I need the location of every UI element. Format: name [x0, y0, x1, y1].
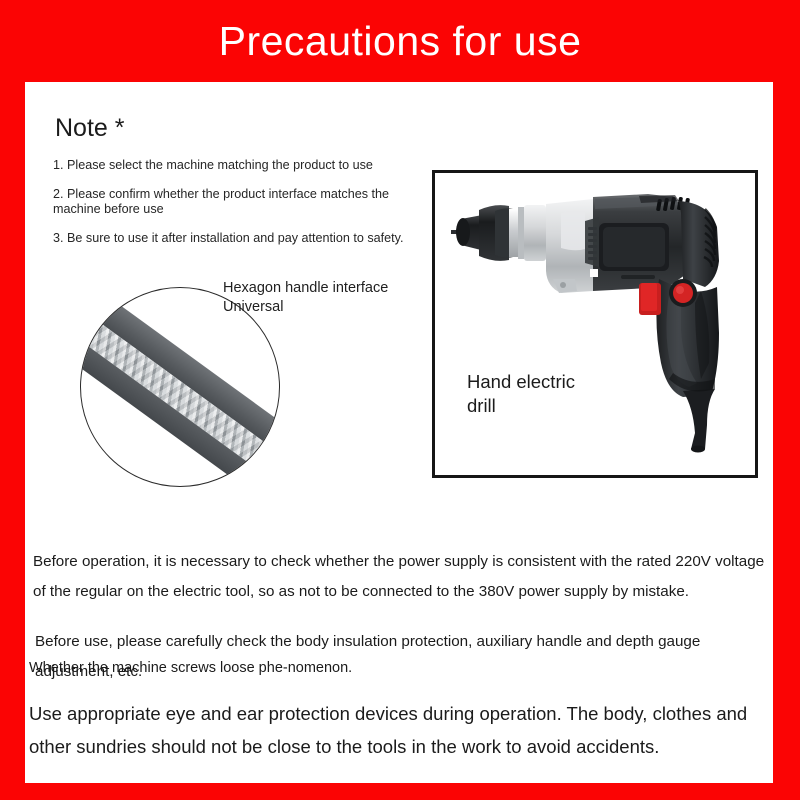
note-item: 3. Be sure to use it after installation …: [53, 231, 421, 247]
hexagon-caption: Hexagon handle interface Universal: [223, 279, 388, 317]
paragraph-insulation-check: Before use, please carefully check the b…: [35, 627, 768, 687]
paragraph-power-supply: Before operation, it is necessary to che…: [33, 547, 768, 607]
hand-electric-drill-panel: Hand electric drill: [432, 170, 758, 478]
note-list: 1. Please select the machine matching th…: [53, 158, 421, 246]
hexagon-caption-line1: Hexagon handle interface: [223, 279, 388, 298]
content-panel: Note * 1. Please select the machine matc…: [25, 82, 773, 783]
hexagon-shank-illustration: [80, 288, 280, 487]
page-title: Precautions for use: [219, 21, 582, 62]
drill-label-line1: Hand electric: [467, 370, 575, 394]
stray-mark: ': [762, 560, 764, 571]
hand-electric-drill-image: [443, 183, 743, 461]
paragraph-screws-loose: Whether the machine screws loose phe-nom…: [29, 658, 429, 678]
note-item: 2. Please confirm whether the product in…: [53, 187, 421, 218]
paragraph-protection-devices: Use appropriate eye and ear protection d…: [29, 697, 759, 763]
precautions-poster: Precautions for use Note * 1. Please sel…: [0, 0, 800, 800]
hexagon-caption-line2: Universal: [223, 298, 388, 317]
hexagon-handle-figure: [80, 287, 280, 487]
drill-label: Hand electric drill: [467, 370, 575, 418]
note-item: 1. Please select the machine matching th…: [53, 158, 421, 174]
note-heading: Note *: [55, 114, 124, 143]
hexagon-face-middle: [80, 309, 280, 487]
drill-label-line2: drill: [467, 394, 575, 418]
hexagon-photo-circle: [80, 287, 280, 487]
title-band: Precautions for use: [0, 0, 800, 82]
